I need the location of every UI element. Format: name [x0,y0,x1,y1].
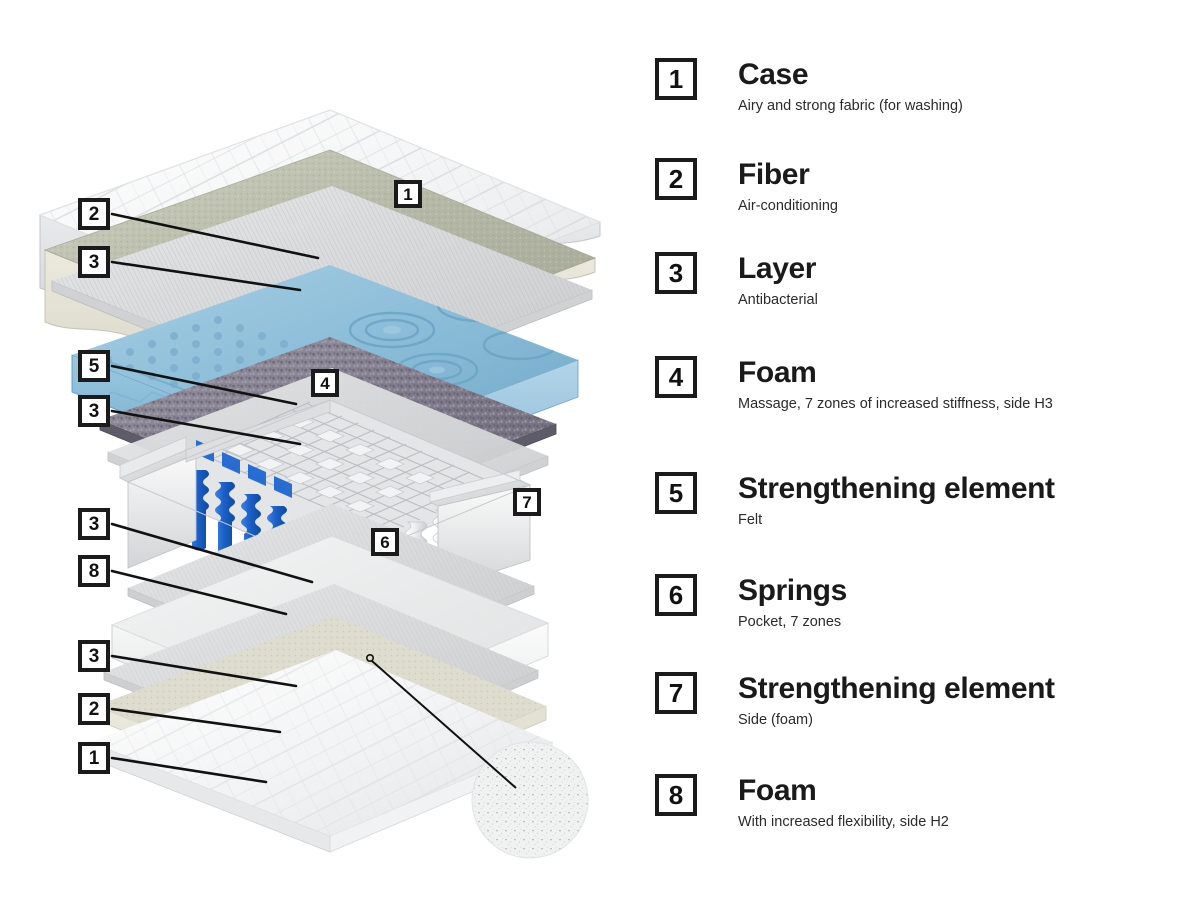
legend-desc-6: Pocket, 7 zones [738,613,847,633]
legend-item-7[interactable]: 7 Strengthening element Side (foam) [655,672,1055,731]
legend-number-5: 5 [655,472,697,514]
callout-box-2-fiber-top[interactable]: 2 [78,198,110,230]
legend-desc-8: With increased flexibility, side H2 [738,813,949,833]
legend-item-8[interactable]: 8 Foam With increased flexibility, side … [655,774,949,833]
callout-box-5-felt[interactable]: 5 [78,350,110,382]
callout-box-3-layer-springs[interactable]: 3 [78,508,110,540]
figure-root: 2 3 5 3 3 8 3 2 1 1 4 6 7 1 Case Airy an… [0,0,1200,900]
legend-desc-1: Airy and strong fabric (for washing) [738,97,963,117]
legend-desc-7: Side (foam) [738,711,1055,731]
legend-title-5: Strengthening element [738,473,1055,504]
legend-number-4: 4 [655,356,697,398]
inline-label-1-case[interactable]: 1 [394,180,422,208]
legend-list: 1 Case Airy and strong fabric (for washi… [640,0,1200,900]
legend-title-7: Strengthening element [738,673,1055,704]
callout-box-3-layer-lower[interactable]: 3 [78,640,110,672]
legend-desc-5: Felt [738,511,1055,531]
callout-box-1-case-bottom[interactable]: 1 [78,742,110,774]
legend-title-4: Foam [738,357,1053,388]
legend-desc-4: Massage, 7 zones of increased stiffness,… [738,395,1053,415]
legend-title-1: Case [738,59,963,90]
legend-number-2: 2 [655,158,697,200]
mattress-exploded-diagram: 2 3 5 3 3 8 3 2 1 1 4 6 7 [0,0,640,900]
legend-number-7: 7 [655,672,697,714]
legend-item-4[interactable]: 4 Foam Massage, 7 zones of increased sti… [655,356,1053,415]
legend-number-8: 8 [655,774,697,816]
legend-number-6: 6 [655,574,697,616]
legend-number-1: 1 [655,58,697,100]
legend-item-2[interactable]: 2 Fiber Air-conditioning [655,158,838,217]
legend-desc-3: Antibacterial [738,291,818,311]
legend-item-6[interactable]: 6 Springs Pocket, 7 zones [655,574,847,633]
callout-box-8-foam-slab[interactable]: 8 [78,555,110,587]
inline-label-7-rail[interactable]: 7 [513,488,541,516]
inline-label-6-springs[interactable]: 6 [371,528,399,556]
legend-item-1[interactable]: 1 Case Airy and strong fabric (for washi… [655,58,963,117]
legend-title-6: Springs [738,575,847,606]
inline-label-4-foam[interactable]: 4 [311,369,339,397]
callout-box-3-layer-top[interactable]: 3 [78,246,110,278]
legend-number-3: 3 [655,252,697,294]
legend-desc-2: Air-conditioning [738,197,838,217]
legend-item-3[interactable]: 3 Layer Antibacterial [655,252,818,311]
legend-title-8: Foam [738,775,949,806]
legend-title-2: Fiber [738,159,838,190]
callout-box-2-fiber-bottom[interactable]: 2 [78,693,110,725]
legend-item-5[interactable]: 5 Strengthening element Felt [655,472,1055,531]
legend-title-3: Layer [738,253,818,284]
callout-box-3-layer-mid[interactable]: 3 [78,395,110,427]
